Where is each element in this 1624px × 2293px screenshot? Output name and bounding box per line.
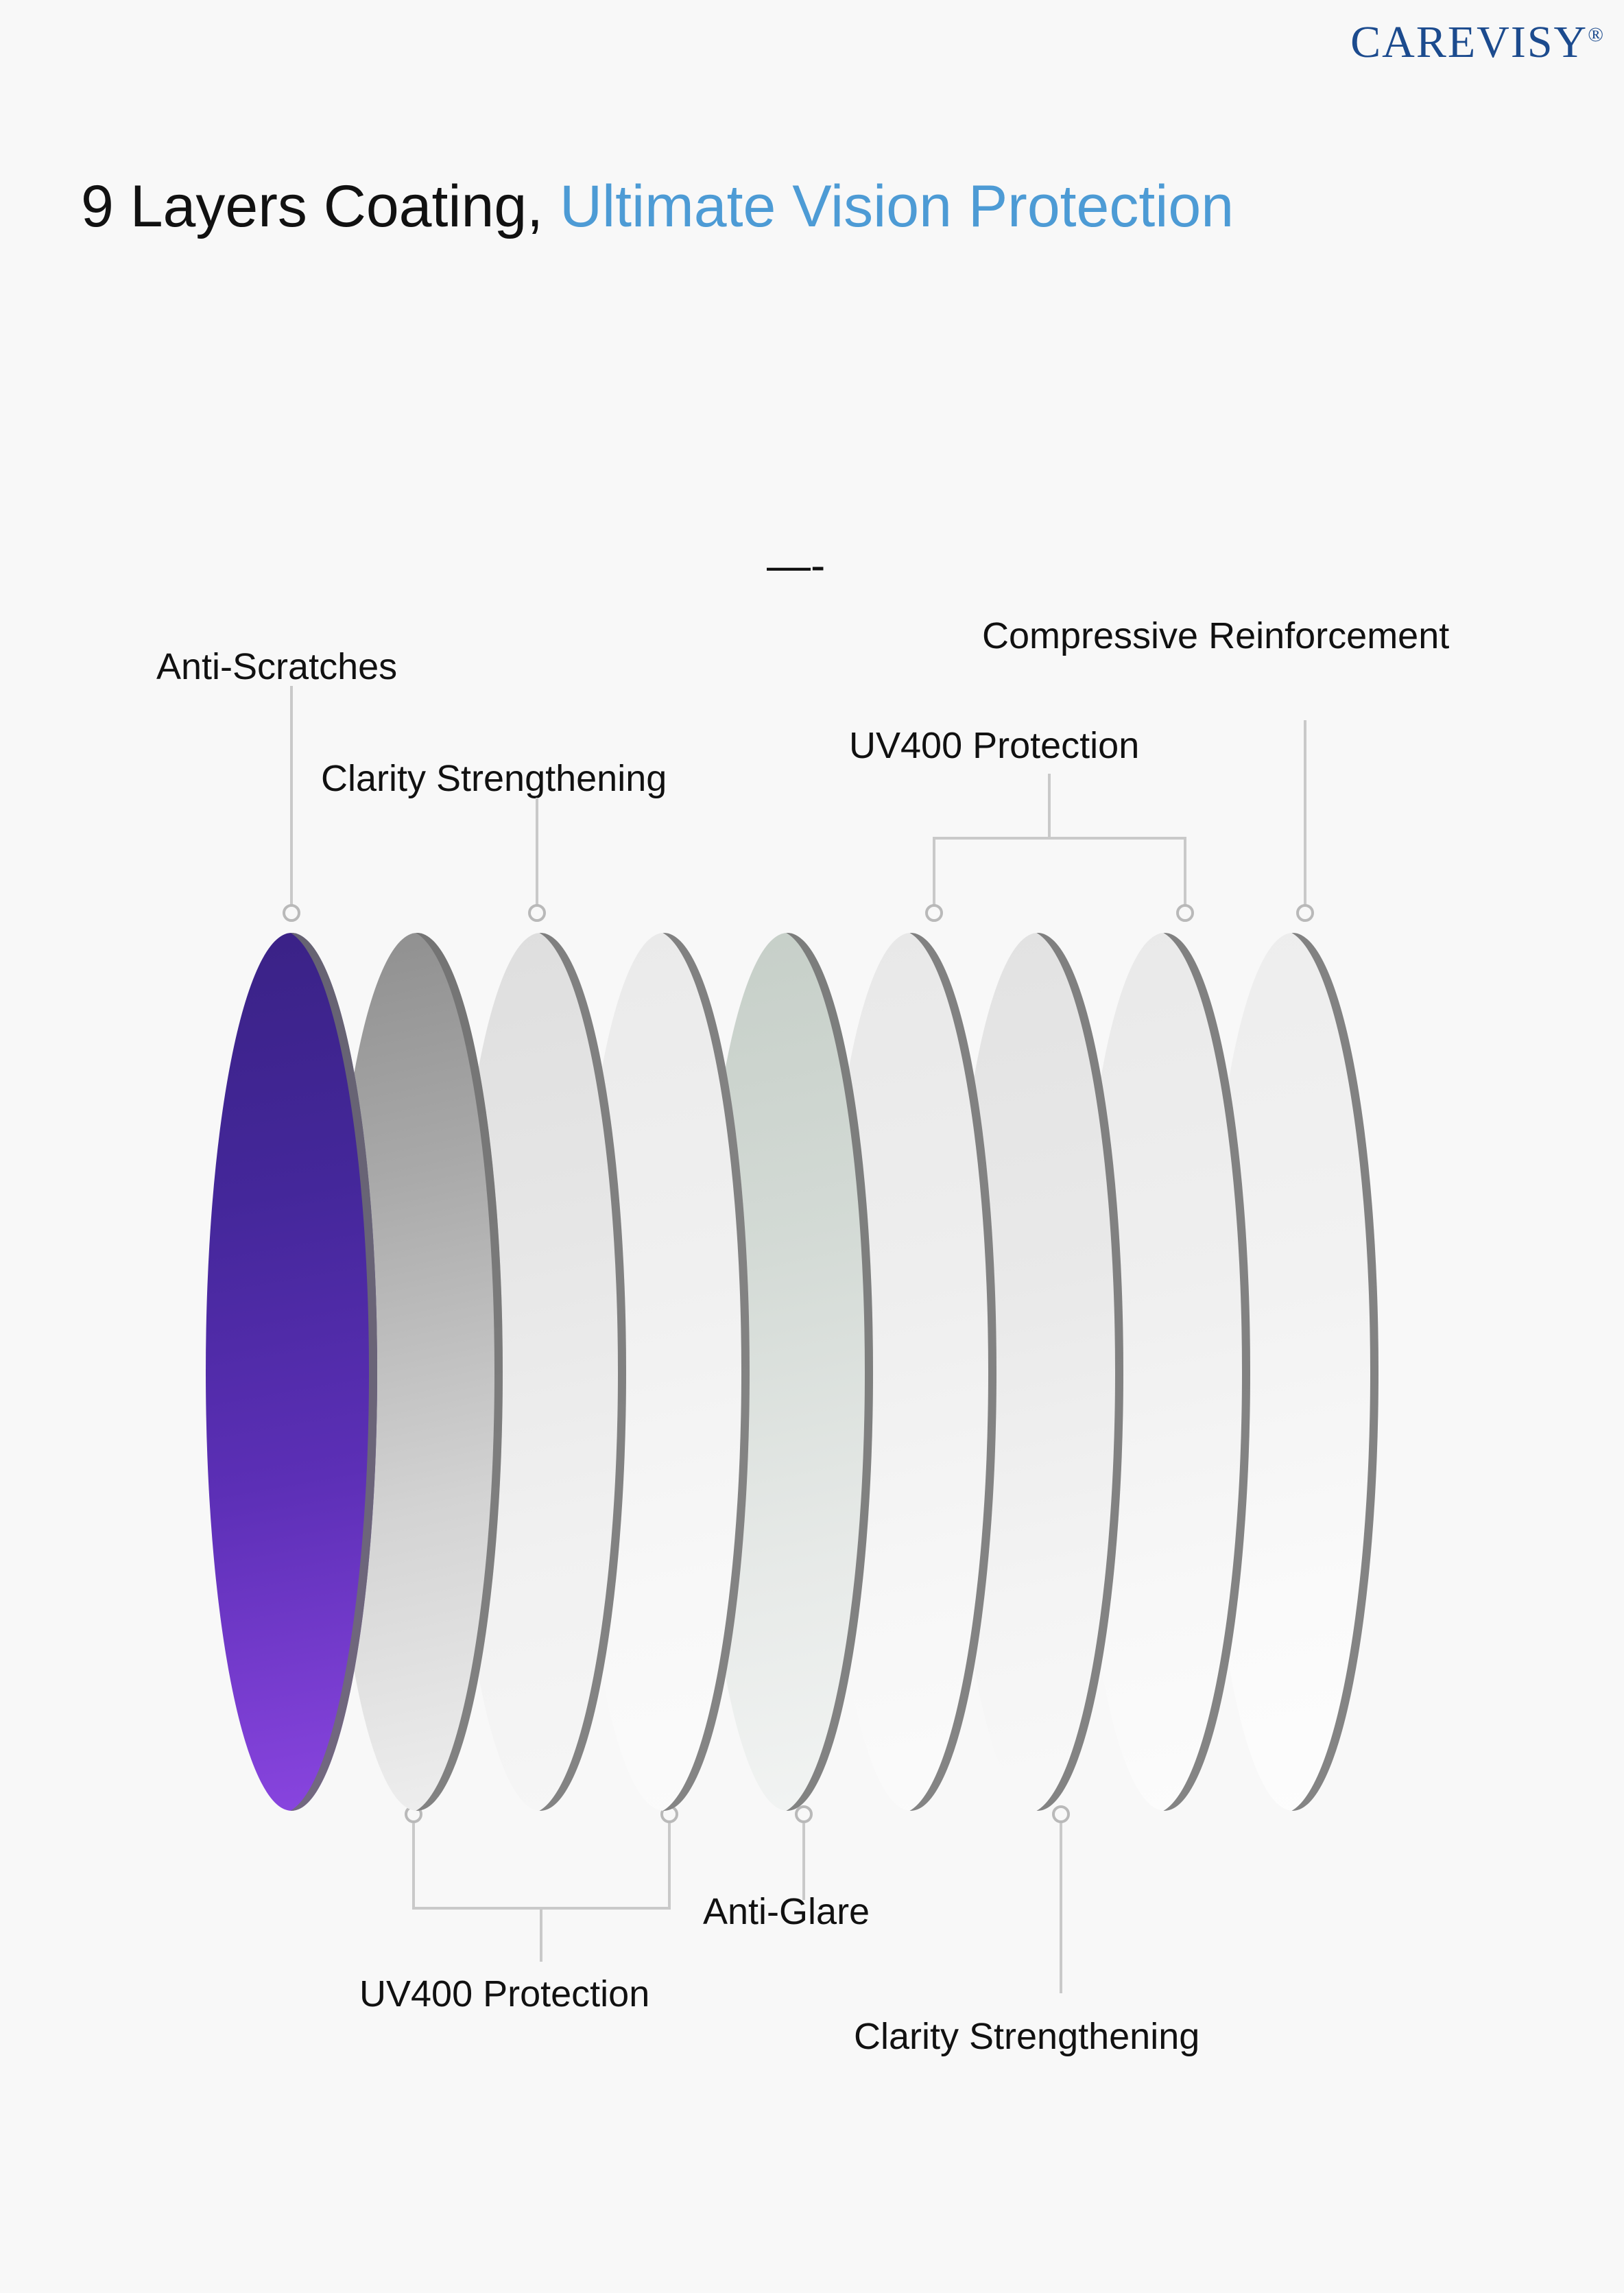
leader-dot-anti-glare — [795, 1805, 813, 1823]
leader-line-clarity-strengthening-top — [536, 798, 538, 905]
lens-layer-1 — [206, 933, 377, 1811]
callout-label-anti-scratches: Anti-Scratches — [156, 648, 397, 685]
callout-label-uv400-protection-top: UV400 Protection — [849, 727, 1139, 764]
leader-stem-uv400-protection-bottom — [540, 1907, 542, 1962]
callout-label-clarity-strengthening-bottom: Clarity Strengthening — [854, 2018, 1199, 2055]
leader-line-clarity-strengthening-bottom — [1060, 1823, 1062, 1993]
leader-bar-uv400-protection-top — [933, 837, 1186, 840]
leader-leg-left-uv400-protection-bottom — [412, 1823, 415, 1908]
leader-stem-uv400-protection-top — [1048, 774, 1051, 838]
leader-line-anti-scratches — [290, 686, 293, 905]
lens-layer-stack — [0, 0, 1624, 2293]
callout-label-clarity-strengthening-top: Clarity Strengthening — [321, 760, 667, 797]
leader-leg-left-uv400-protection-top — [933, 837, 935, 905]
leader-dot-uv400-top-right — [1176, 904, 1194, 922]
leader-dot-uv400-top-left — [925, 904, 943, 922]
poster-canvas: CAREVISY® 9 Layers Coating, Ultimate Vis… — [0, 0, 1624, 2293]
leader-leg-right-uv400-protection-top — [1184, 837, 1186, 905]
leader-line-compressive-reinforcement — [1304, 720, 1306, 905]
leader-leg-right-uv400-protection-bottom — [668, 1823, 671, 1908]
lens-layer-1-rim — [206, 933, 377, 1811]
leader-dot-clarity-strengthening-top — [528, 904, 546, 922]
leader-dot-anti-scratches — [283, 904, 300, 922]
leader-dot-clarity-strengthening-bottom — [1052, 1805, 1070, 1823]
callout-label-anti-glare: Anti-Glare — [703, 1893, 870, 1930]
callout-label-uv400-protection-bottom: UV400 Protection — [359, 1975, 649, 2012]
leader-dot-compressive-reinforcement — [1296, 904, 1314, 922]
callout-label-compressive-reinforcement: Compressive Reinforcement — [982, 617, 1449, 654]
leader-line-anti-glare — [802, 1823, 805, 1900]
